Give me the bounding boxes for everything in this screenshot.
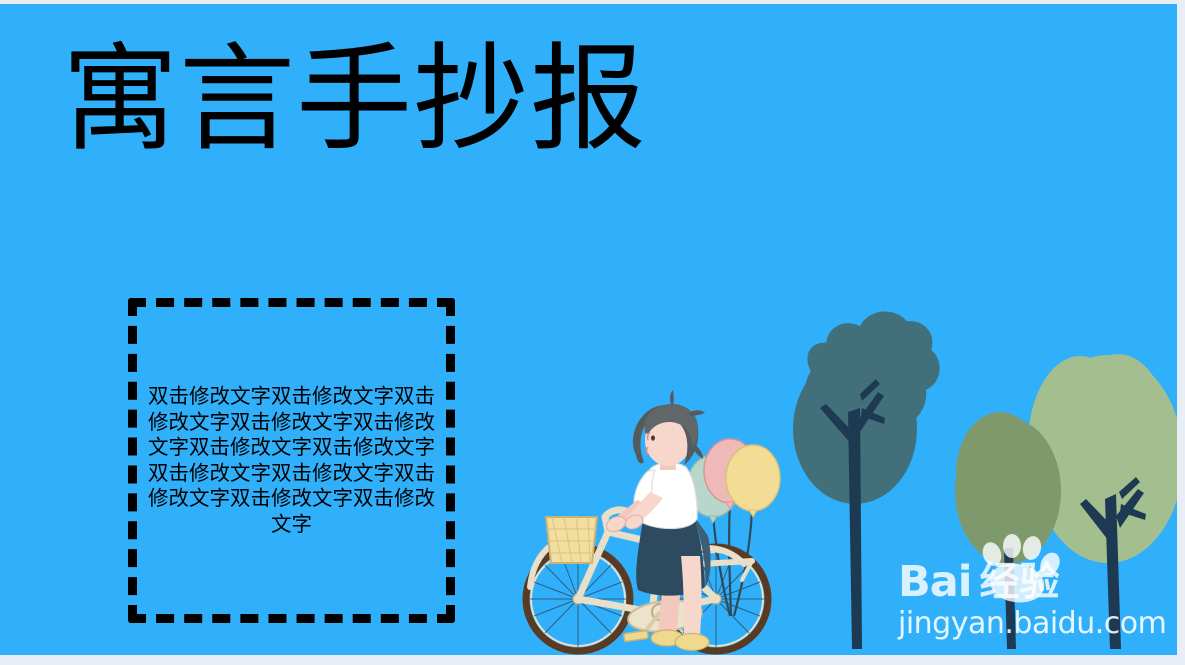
slide-canvas: 寓言手抄报 双击修改文字双击修改文字双击修改文字双击修改文字双击修改文字双击修改… [0,0,1185,665]
text-box-content[interactable]: 双击修改文字双击修改文字双击修改文字双击修改文字双击修改文字双击修改文字双击修改… [144,384,439,537]
tree-dark-teal [793,311,940,649]
editable-text-box[interactable]: 双击修改文字双击修改文字双击修改文字双击修改文字双击修改文字双击修改文字双击修改… [128,298,455,623]
slide-background: 寓言手抄报 双击修改文字双击修改文字双击修改文字双击修改文字双击修改文字双击修改… [0,4,1177,655]
tree-olive-green [955,412,1061,649]
balloon-yellow [726,445,780,517]
bicycle-basket [546,517,597,563]
page-title: 寓言手抄报 [62,32,647,169]
